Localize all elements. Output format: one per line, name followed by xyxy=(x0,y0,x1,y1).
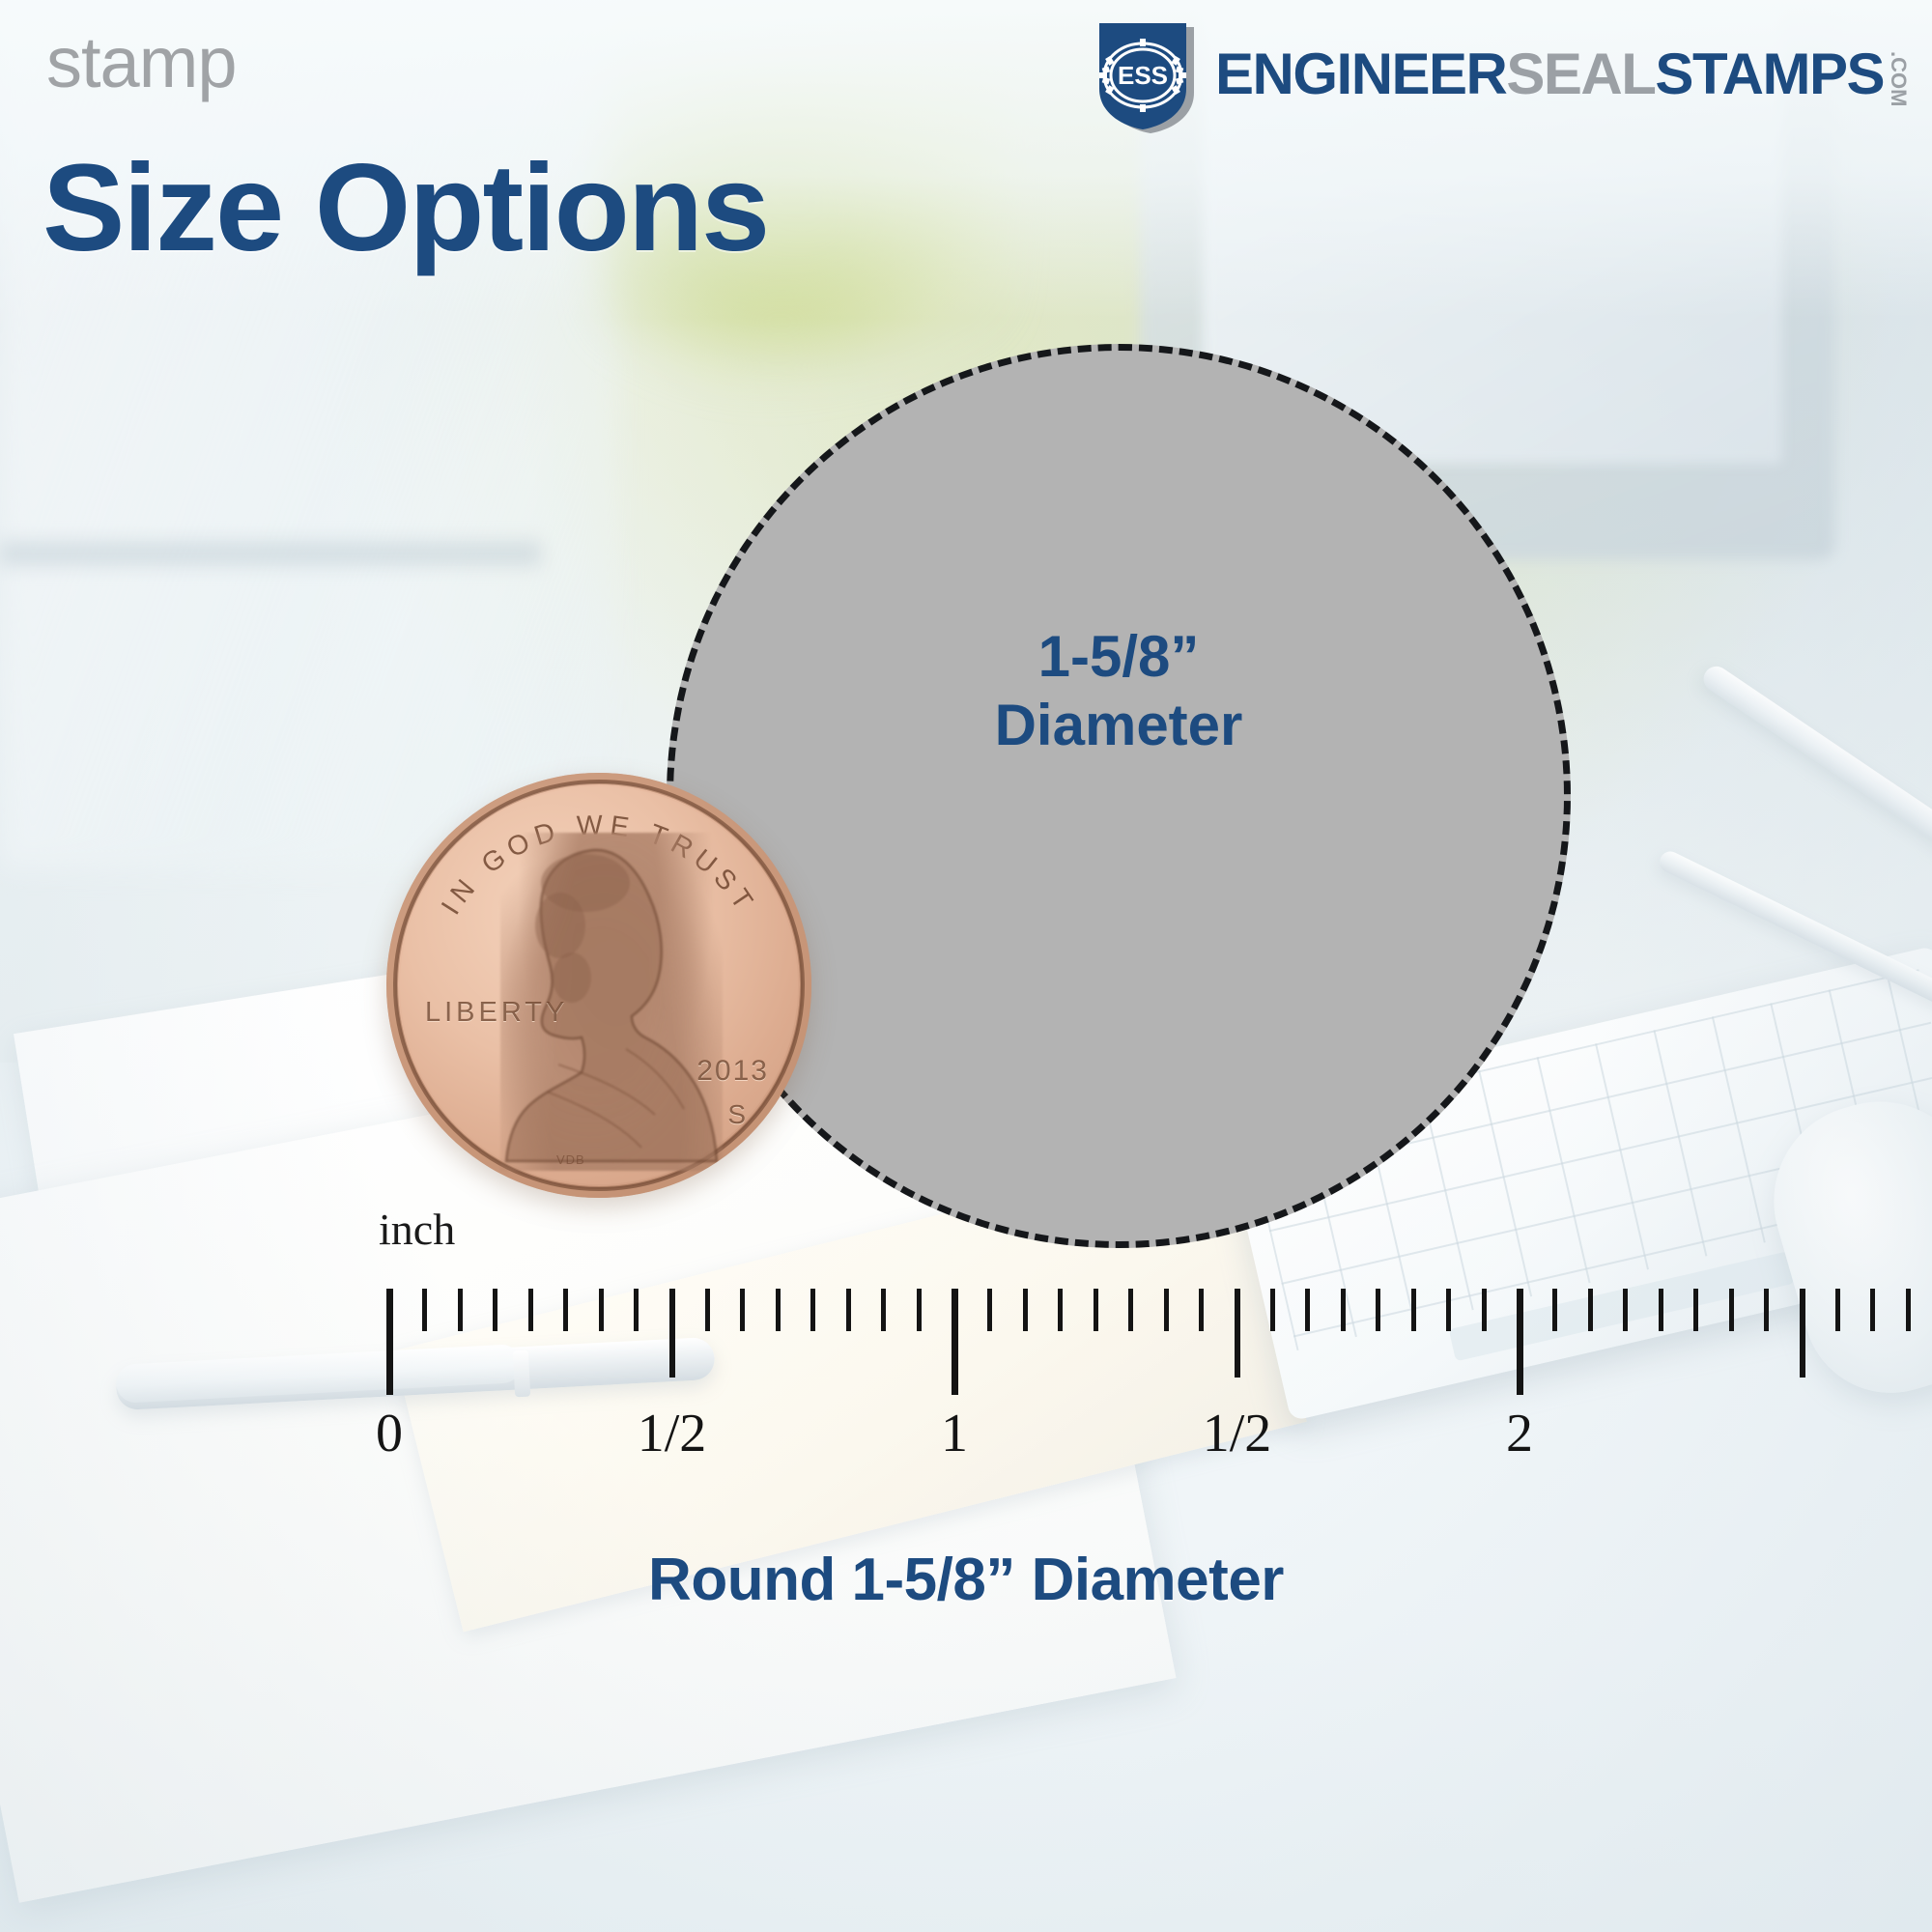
logo-word-engineer: ENGINEER xyxy=(1215,45,1506,103)
background-window-frame xyxy=(0,541,541,566)
background-pen-ring xyxy=(513,1350,530,1398)
logo[interactable]: ESS ENGINEERSEALSTAMPS.COM xyxy=(1094,21,1909,135)
brand-word: stamp xyxy=(46,27,237,99)
logo-tld: .COM xyxy=(1888,51,1909,106)
logo-word-seal: SEAL xyxy=(1506,45,1655,103)
logo-wordmark: ENGINEERSEALSTAMPS.COM xyxy=(1215,45,1909,106)
size-caption: Round 1-5/8” Diameter xyxy=(0,1546,1932,1614)
ess-badge-text: ESS xyxy=(1118,61,1168,90)
page-title: Size Options xyxy=(43,147,768,270)
penny-reference-coin: IN GOD WE TRUST LI xyxy=(386,773,811,1198)
size-preview-label: 1-5/8” Diameter xyxy=(673,623,1564,760)
penny-designer-initials: VDB xyxy=(556,1152,585,1167)
size-options-graphic: stamp Size Options xyxy=(0,0,1932,1932)
logo-word-stamps: STAMPS xyxy=(1655,45,1884,103)
penny-mint-mark: S xyxy=(727,1099,746,1130)
ess-badge-icon: ESS xyxy=(1094,21,1207,135)
size-preview-label-line2: Diameter xyxy=(673,692,1564,760)
penny-liberty-text: LIBERTY xyxy=(425,997,568,1029)
size-preview-label-line1: 1-5/8” xyxy=(673,623,1564,692)
penny-year-text: 2013 xyxy=(696,1055,769,1088)
